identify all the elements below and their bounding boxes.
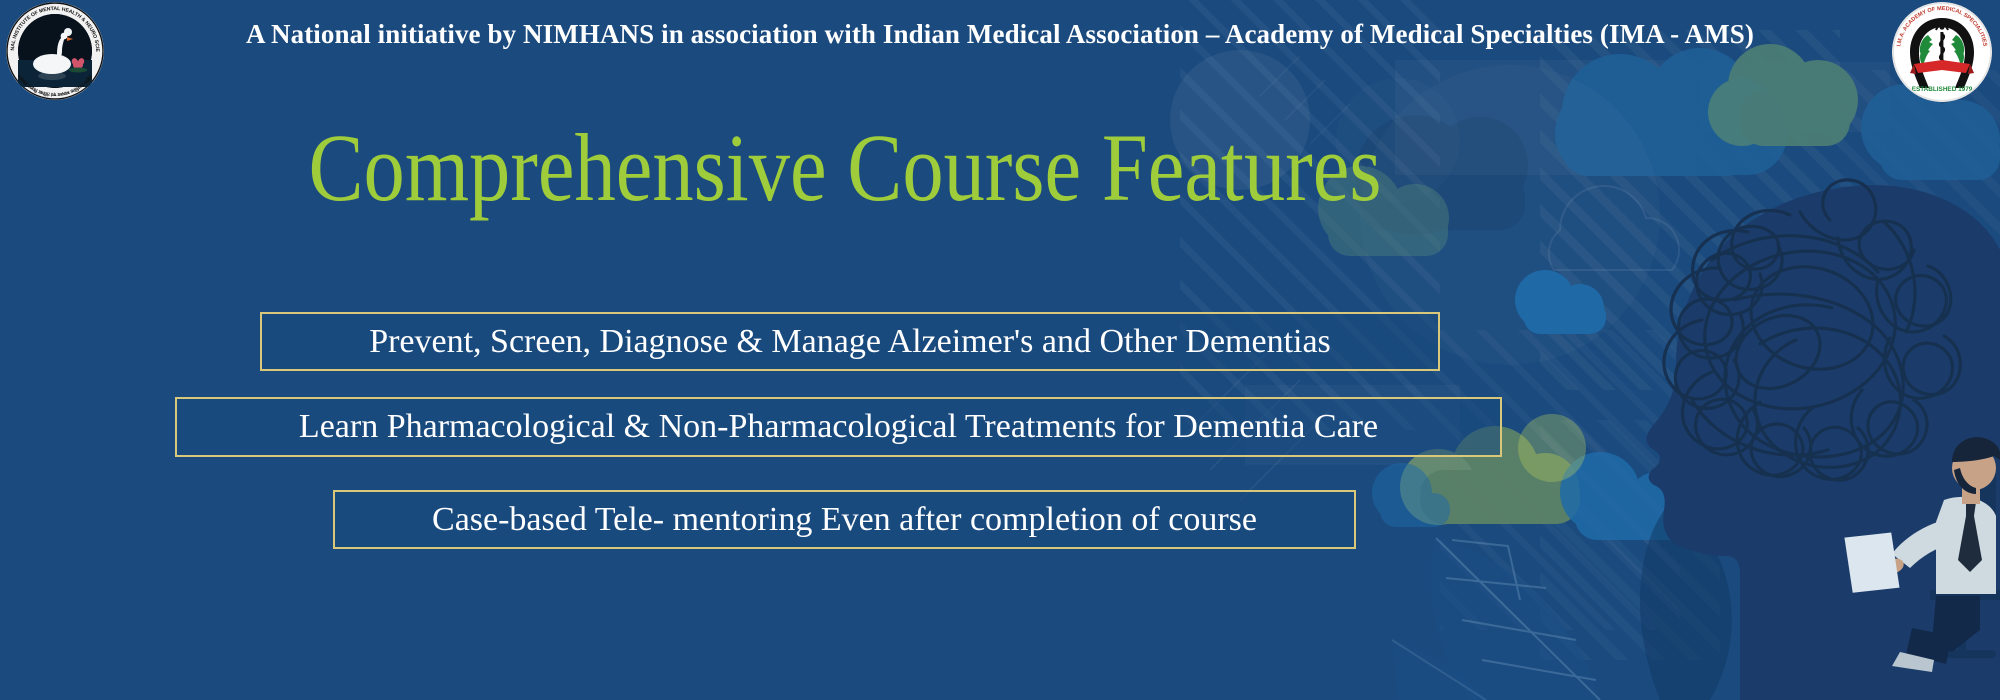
feature-box: Prevent, Screen, Diagnose & Manage Alzei… — [260, 312, 1440, 371]
svg-text:ESTABLISHED 1979: ESTABLISHED 1979 — [1912, 86, 1973, 93]
banner-canvas: NATIONAL INSTITUTE OF MENTAL HEALTH & NE… — [0, 0, 2000, 700]
feature-box: Case-based Tele- mentoring Even after co… — [333, 490, 1356, 549]
ima-ams-logo: ESTABLISHED 1979 I.M.A. ACADEMY OF MEDIC… — [1892, 2, 1992, 102]
header-title: A National initiative by NIMHANS in asso… — [120, 0, 1880, 68]
page-title: Comprehensive Course Features — [118, 118, 1571, 219]
header-bar: NATIONAL INSTITUTE OF MENTAL HEALTH & NE… — [0, 0, 2000, 68]
nimhans-logo: NATIONAL INSTITUTE OF MENTAL HEALTH & NE… — [6, 2, 104, 100]
feature-box: Learn Pharmacological & Non-Pharmacologi… — [175, 397, 1502, 457]
